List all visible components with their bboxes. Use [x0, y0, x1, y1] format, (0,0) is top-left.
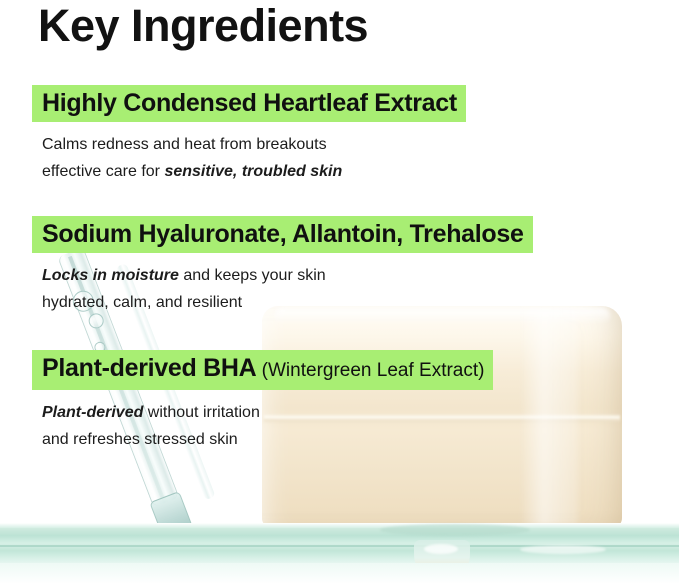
- ingredient-description-2: Locks in moisture and keeps your skin hy…: [42, 262, 533, 316]
- ingredient-block-3: Plant-derived BHA (Wintergreen Leaf Extr…: [0, 350, 493, 453]
- ingredient-heading-main-3: Plant-derived BHA: [42, 354, 256, 382]
- ingredient-heading-main-2: Sodium Hyaluronate, Allantoin, Trehalose: [42, 220, 524, 248]
- ingredient-block-2: Sodium Hyaluronate, Allantoin, Trehalose…: [0, 216, 533, 316]
- ingredient-heading-wrap-1: Highly Condensed Heartleaf Extract: [32, 85, 466, 122]
- ingredient-heading-1: Highly Condensed Heartleaf Extract: [32, 85, 466, 122]
- desc-emphasis: sensitive, troubled skin: [164, 163, 342, 180]
- ingredient-heading-2: Sodium Hyaluronate, Allantoin, Trehalose: [32, 216, 533, 253]
- ingredient-heading-3: Plant-derived BHA (Wintergreen Leaf Extr…: [32, 350, 493, 390]
- ingredient-desc-line-1a: Calms redness and heat from breakouts: [42, 131, 466, 158]
- page-title: Key Ingredients: [38, 0, 368, 56]
- ingredient-desc-line-2a: Locks in moisture and keeps your skin: [42, 262, 533, 289]
- desc-emphasis: Plant-derived: [42, 404, 143, 421]
- ingredient-heading-main-1: Highly Condensed Heartleaf Extract: [42, 89, 457, 117]
- ingredient-heading-wrap-2: Sodium Hyaluronate, Allantoin, Trehalose: [32, 216, 533, 253]
- ingredient-desc-line-3b: and refreshes stressed skin: [42, 426, 493, 453]
- key-ingredients-page: Key Ingredients Highly Condensed Heartle…: [0, 0, 679, 584]
- ingredient-description-1: Calms redness and heat from breakouts ef…: [42, 131, 466, 185]
- desc-emphasis: Locks in moisture: [42, 267, 179, 284]
- text-content: Key Ingredients Highly Condensed Heartle…: [0, 0, 679, 584]
- ingredient-heading-wrap-3: Plant-derived BHA (Wintergreen Leaf Extr…: [32, 350, 493, 390]
- desc-text: without irritation: [143, 404, 260, 421]
- desc-text: and keeps your skin: [179, 267, 326, 284]
- ingredient-desc-line-3a: Plant-derived without irritation: [42, 399, 493, 426]
- ingredient-heading-sub-3: (Wintergreen Leaf Extract): [256, 360, 484, 381]
- desc-text: effective care for: [42, 163, 164, 180]
- ingredient-block-1: Highly Condensed Heartleaf Extract Calms…: [0, 85, 466, 185]
- ingredient-description-3: Plant-derived without irritation and ref…: [42, 399, 493, 453]
- ingredient-desc-line-1b: effective care for sensitive, troubled s…: [42, 158, 466, 185]
- ingredient-desc-line-2b: hydrated, calm, and resilient: [42, 289, 533, 316]
